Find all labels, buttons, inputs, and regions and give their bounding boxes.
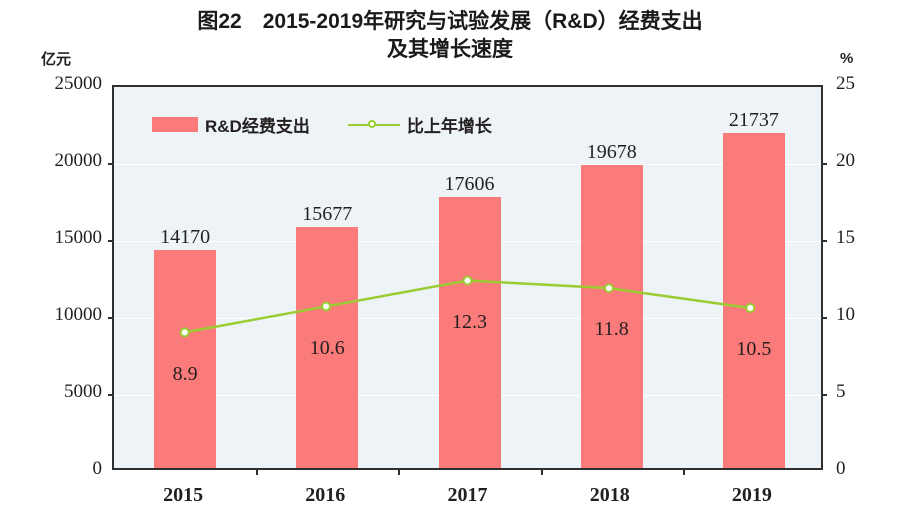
y-axis-right-label: 10	[836, 304, 876, 326]
legend-item-line: 比上年增长	[348, 112, 492, 137]
line-value-label: 10.6	[267, 337, 387, 360]
x-tick	[398, 468, 400, 475]
plot-area: 1417015677176061967821737 8.910.612.311.…	[112, 85, 823, 470]
chart-title: 图22 2015-2019年研究与试验发展（R&D）经费支出 及其增长速度	[120, 8, 780, 64]
bar	[581, 165, 643, 468]
y-tick-right	[821, 163, 827, 165]
x-axis-label: 2016	[265, 484, 385, 507]
y-axis-left-label: 20000	[20, 150, 102, 172]
chart-title-line-2: 及其增长速度	[120, 36, 780, 64]
line-value-label: 10.5	[694, 338, 814, 361]
bar	[723, 133, 785, 468]
y-axis-left-label: 15000	[20, 227, 102, 249]
x-axis-label: 2018	[550, 484, 670, 507]
bar	[154, 250, 216, 468]
x-axis-label: 2019	[692, 484, 812, 507]
y-tick-right	[821, 394, 827, 396]
legend-line-label: 比上年增长	[407, 112, 492, 137]
chart-legend: R&D经费支出 比上年增长	[152, 112, 492, 137]
chart-title-line-1: 图22 2015-2019年研究与试验发展（R&D）经费支出	[120, 8, 780, 36]
y-tick-right	[821, 317, 827, 319]
y-axis-left-label: 10000	[20, 304, 102, 326]
y-tick-left	[108, 163, 114, 165]
legend-bar-swatch-icon	[152, 117, 198, 132]
y-tick-left	[108, 394, 114, 396]
y-tick-left	[108, 240, 114, 242]
y-axis-right-label: 25	[836, 73, 876, 95]
legend-line-marker-icon	[348, 117, 400, 133]
y-axis-right-label: 15	[836, 227, 876, 249]
bar-value-label: 19678	[552, 141, 672, 164]
y-axis-right-label: 20	[836, 150, 876, 172]
gridline	[114, 164, 821, 165]
bar-value-label: 21737	[694, 109, 814, 132]
y-axis-right-label: 0	[836, 458, 876, 480]
y-tick-right	[821, 240, 827, 242]
line-value-label: 8.9	[125, 363, 245, 386]
y-axis-left-label: 5000	[20, 381, 102, 403]
bar-value-label: 17606	[410, 173, 530, 196]
x-axis-label: 2015	[123, 484, 243, 507]
x-tick	[541, 468, 543, 475]
figure-chart: 图22 2015-2019年研究与试验发展（R&D）经费支出 及其增长速度 亿元…	[0, 0, 900, 532]
y-tick-left	[108, 317, 114, 319]
x-axis-label: 2017	[408, 484, 528, 507]
y-axis-right-label: 5	[836, 381, 876, 403]
y-axis-unit-right: %	[840, 50, 853, 67]
bar-value-label: 15677	[267, 203, 387, 226]
y-axis-left-label: 0	[20, 458, 102, 480]
legend-item-bar: R&D经费支出	[152, 112, 310, 137]
x-tick	[256, 468, 258, 475]
legend-circle-marker-icon	[368, 120, 376, 128]
x-tick	[683, 468, 685, 475]
y-axis-unit-left: 亿元	[41, 48, 71, 69]
line-value-label: 12.3	[410, 311, 530, 334]
bar-value-label: 14170	[125, 226, 245, 249]
legend-bar-label: R&D经费支出	[205, 112, 310, 137]
line-value-label: 11.8	[552, 318, 672, 341]
y-axis-left-label: 25000	[20, 73, 102, 95]
